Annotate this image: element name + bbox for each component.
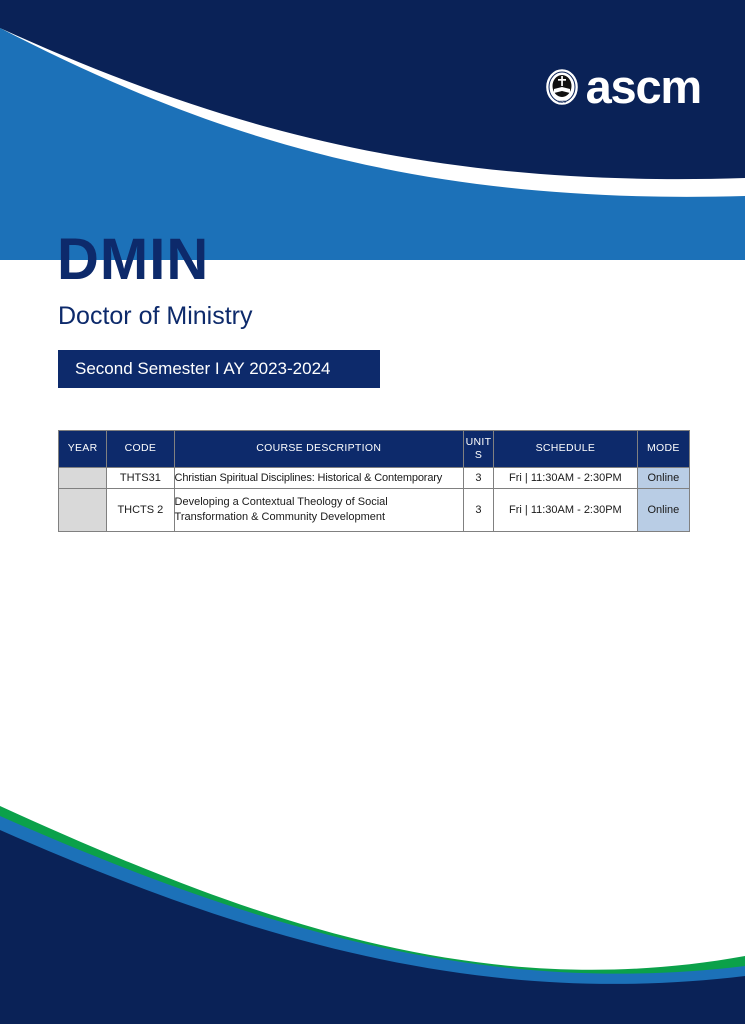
column-header-year: YEAR (59, 431, 107, 468)
semester-badge: Second Semester I AY 2023-2024 (58, 350, 380, 388)
cell-description: Developing a Contextual Theology of Soci… (174, 489, 463, 532)
column-header-units-line2: S (475, 449, 482, 461)
column-header-description: COURSE DESCRIPTION (174, 431, 463, 468)
column-header-schedule: SCHEDULE (494, 431, 638, 468)
cell-schedule: Fri | 11:30AM - 2:30PM (494, 489, 638, 532)
footer-wave-decoration (0, 794, 745, 1024)
cell-code: THCTS 2 (107, 489, 174, 532)
column-header-code: CODE (107, 431, 174, 468)
cell-description: Christian Spiritual Disciplines: Histori… (174, 468, 463, 489)
cell-mode: Online (637, 468, 689, 489)
ascm-seal-icon: 1975 (542, 67, 582, 107)
course-offering-page: 1975 ascm DMIN Doctor of Ministry Second… (0, 0, 745, 1024)
table-row: THTS31 Christian Spiritual Disciplines: … (59, 468, 690, 489)
course-offering-table: YEAR CODE COURSE DESCRIPTION UNIT S SCHE… (58, 430, 690, 532)
program-subtitle: Doctor of Ministry (58, 303, 252, 331)
cell-year (59, 489, 107, 532)
cell-code: THTS31 (107, 468, 174, 489)
cell-schedule: Fri | 11:30AM - 2:30PM (494, 468, 638, 489)
wave-green-band-bottom (0, 806, 745, 1024)
table-row: THCTS 2 Developing a Contextual Theology… (59, 489, 690, 532)
cell-mode: Online (637, 489, 689, 532)
ascm-wordmark: ascm (586, 63, 701, 110)
table-header-row: YEAR CODE COURSE DESCRIPTION UNIT S SCHE… (59, 431, 690, 468)
header-wave-decoration (0, 0, 745, 260)
column-header-mode: MODE (637, 431, 689, 468)
svg-text:1975: 1975 (558, 100, 566, 104)
column-header-units: UNIT S (463, 431, 493, 468)
column-header-units-line1: UNIT (466, 436, 492, 448)
ascm-logo: 1975 ascm (542, 63, 701, 110)
page-title: DMIN (57, 231, 209, 289)
wave-blue-band-bottom (0, 816, 745, 1024)
cell-units: 3 (463, 468, 493, 489)
semester-badge-label: Second Semester I AY 2023-2024 (58, 359, 331, 379)
cell-year (59, 468, 107, 489)
wave-navy-band-bottom (0, 830, 745, 1024)
cell-units: 3 (463, 489, 493, 532)
